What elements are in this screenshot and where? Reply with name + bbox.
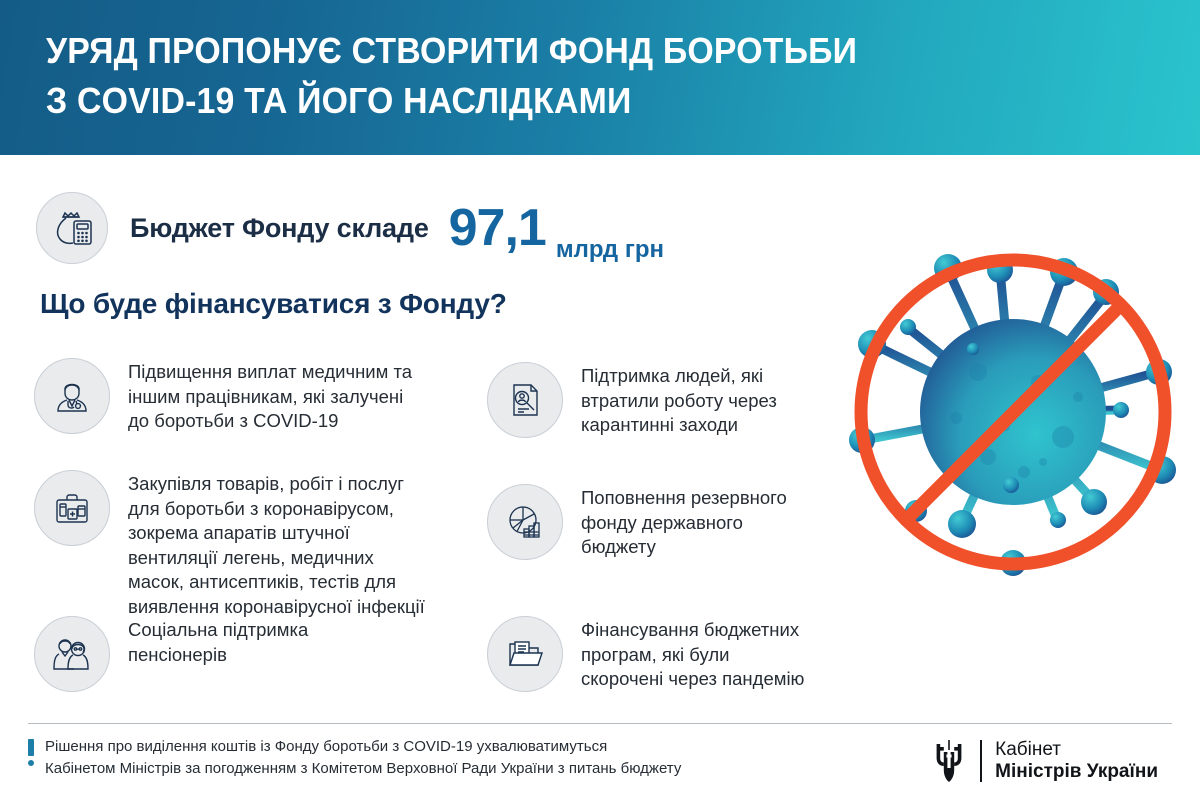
elderly-couple-icon <box>34 616 110 692</box>
ukraine-trident-icon <box>929 738 969 784</box>
brand-text: Кабінет Міністрів України <box>995 739 1158 784</box>
list-item: Поповнення резервного фонду державного б… <box>487 484 787 560</box>
list-item-label: Соціальна підтримка пенсіонерів <box>128 616 308 667</box>
footer-note-text: Рішення про виділення коштів із Фонду бо… <box>45 736 681 780</box>
list-item: Підвищення виплат медичним та іншим прац… <box>34 358 412 434</box>
footer-note: Рішення про виділення коштів із Фонду бо… <box>28 736 681 780</box>
money-bag-calculator-icon <box>36 192 108 264</box>
budget-summary: Бюджет Фонду складе 97,1 млрд грн <box>36 186 664 270</box>
page-title: УРЯД ПРОПОНУЄ СТВОРИТИ ФОНД БОРОТЬБИ З C… <box>46 26 1080 125</box>
header-banner: УРЯД ПРОПОНУЄ СТВОРИТИ ФОНД БОРОТЬБИ З C… <box>0 0 1200 155</box>
exclamation-icon <box>28 739 34 766</box>
list-item-label: Підвищення виплат медичним та іншим прац… <box>128 358 412 434</box>
coronavirus-prohibited-icon <box>828 222 1198 600</box>
list-item: Соціальна підтримка пенсіонерів <box>34 616 308 692</box>
footer-divider <box>28 723 1172 724</box>
list-item: Підтримка людей, які втратили роботу чер… <box>487 362 777 438</box>
document-magnifier-person-icon <box>487 362 563 438</box>
list-item-label: Закупівля товарів, робіт і послуг для бо… <box>128 470 425 620</box>
budget-unit: млрд грн <box>556 236 664 264</box>
doctor-icon <box>34 358 110 434</box>
folder-document-icon <box>487 616 563 692</box>
brand-logo: Кабінет Міністрів України <box>929 738 1158 784</box>
section-heading: Що буде фінансуватися з Фонду? <box>40 288 507 320</box>
list-item-label: Поповнення резервного фонду державного б… <box>581 484 787 560</box>
list-item: Закупівля товарів, робіт і послуг для бо… <box>34 470 425 620</box>
brand-line-1: Кабінет <box>995 739 1158 761</box>
budget-amount: 97,1 <box>449 202 546 254</box>
list-item-label: Підтримка людей, які втратили роботу чер… <box>581 362 777 438</box>
footer: Рішення про виділення коштів із Фонду бо… <box>28 736 1172 790</box>
infographic-page: УРЯД ПРОПОНУЄ СТВОРИТИ ФОНД БОРОТЬБИ З C… <box>0 0 1200 800</box>
list-item-label: Фінансування бюджетних програм, які були… <box>581 616 804 692</box>
pie-bar-chart-icon <box>487 484 563 560</box>
list-item: Фінансування бюджетних програм, які були… <box>487 616 804 692</box>
brand-line-2: Міністрів України <box>995 761 1158 783</box>
budget-label: Бюджет Фонду складе <box>130 213 429 244</box>
medical-kit-icon <box>34 470 110 546</box>
brand-divider <box>980 740 982 782</box>
